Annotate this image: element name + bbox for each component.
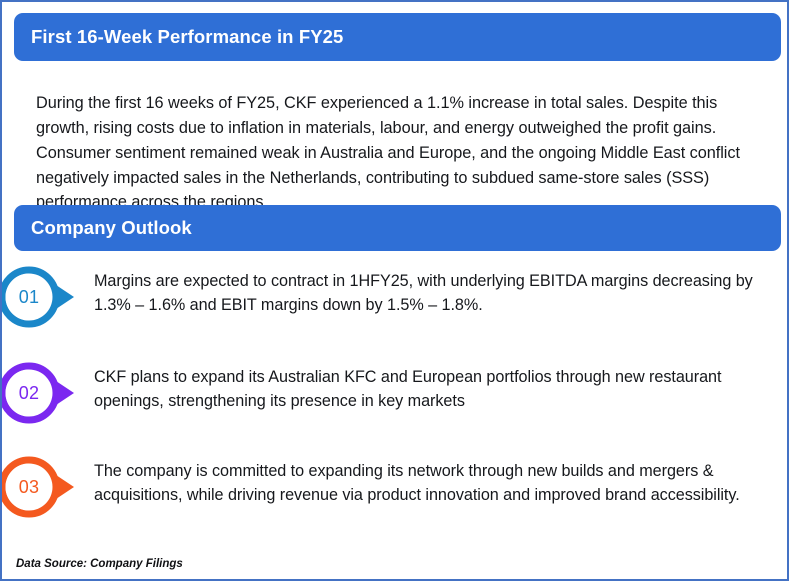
outlook-item-text: Margins are expected to contract in 1HFY… <box>94 269 754 318</box>
outlook-item: 03 The company is committed to expanding… <box>2 454 789 528</box>
pin-marker-icon: 01 <box>0 264 80 330</box>
outlook-item-number: 02 <box>0 360 62 426</box>
outlook-item-number: 01 <box>0 264 62 330</box>
outlook-item: 02 CKF plans to expand its Australian KF… <box>2 360 789 434</box>
pin-marker-icon: 03 <box>0 454 80 520</box>
outlook-item-text: CKF plans to expand its Australian KFC a… <box>94 365 754 414</box>
outlook-item-text: The company is committed to expanding it… <box>94 459 754 508</box>
section-header-outlook: Company Outlook <box>14 205 781 251</box>
slide-page: First 16-Week Performance in FY25 During… <box>0 0 789 581</box>
section-header-performance-label: First 16-Week Performance in FY25 <box>31 26 343 48</box>
section-header-performance: First 16-Week Performance in FY25 <box>14 13 781 61</box>
outlook-item-number: 03 <box>0 454 62 520</box>
outlook-item: 01 Margins are expected to contract in 1… <box>2 264 789 338</box>
performance-paragraph: During the first 16 weeks of FY25, CKF e… <box>36 91 758 215</box>
data-source-note: Data Source: Company Filings <box>16 558 183 570</box>
pin-marker-icon: 02 <box>0 360 80 426</box>
section-header-outlook-label: Company Outlook <box>31 217 192 239</box>
